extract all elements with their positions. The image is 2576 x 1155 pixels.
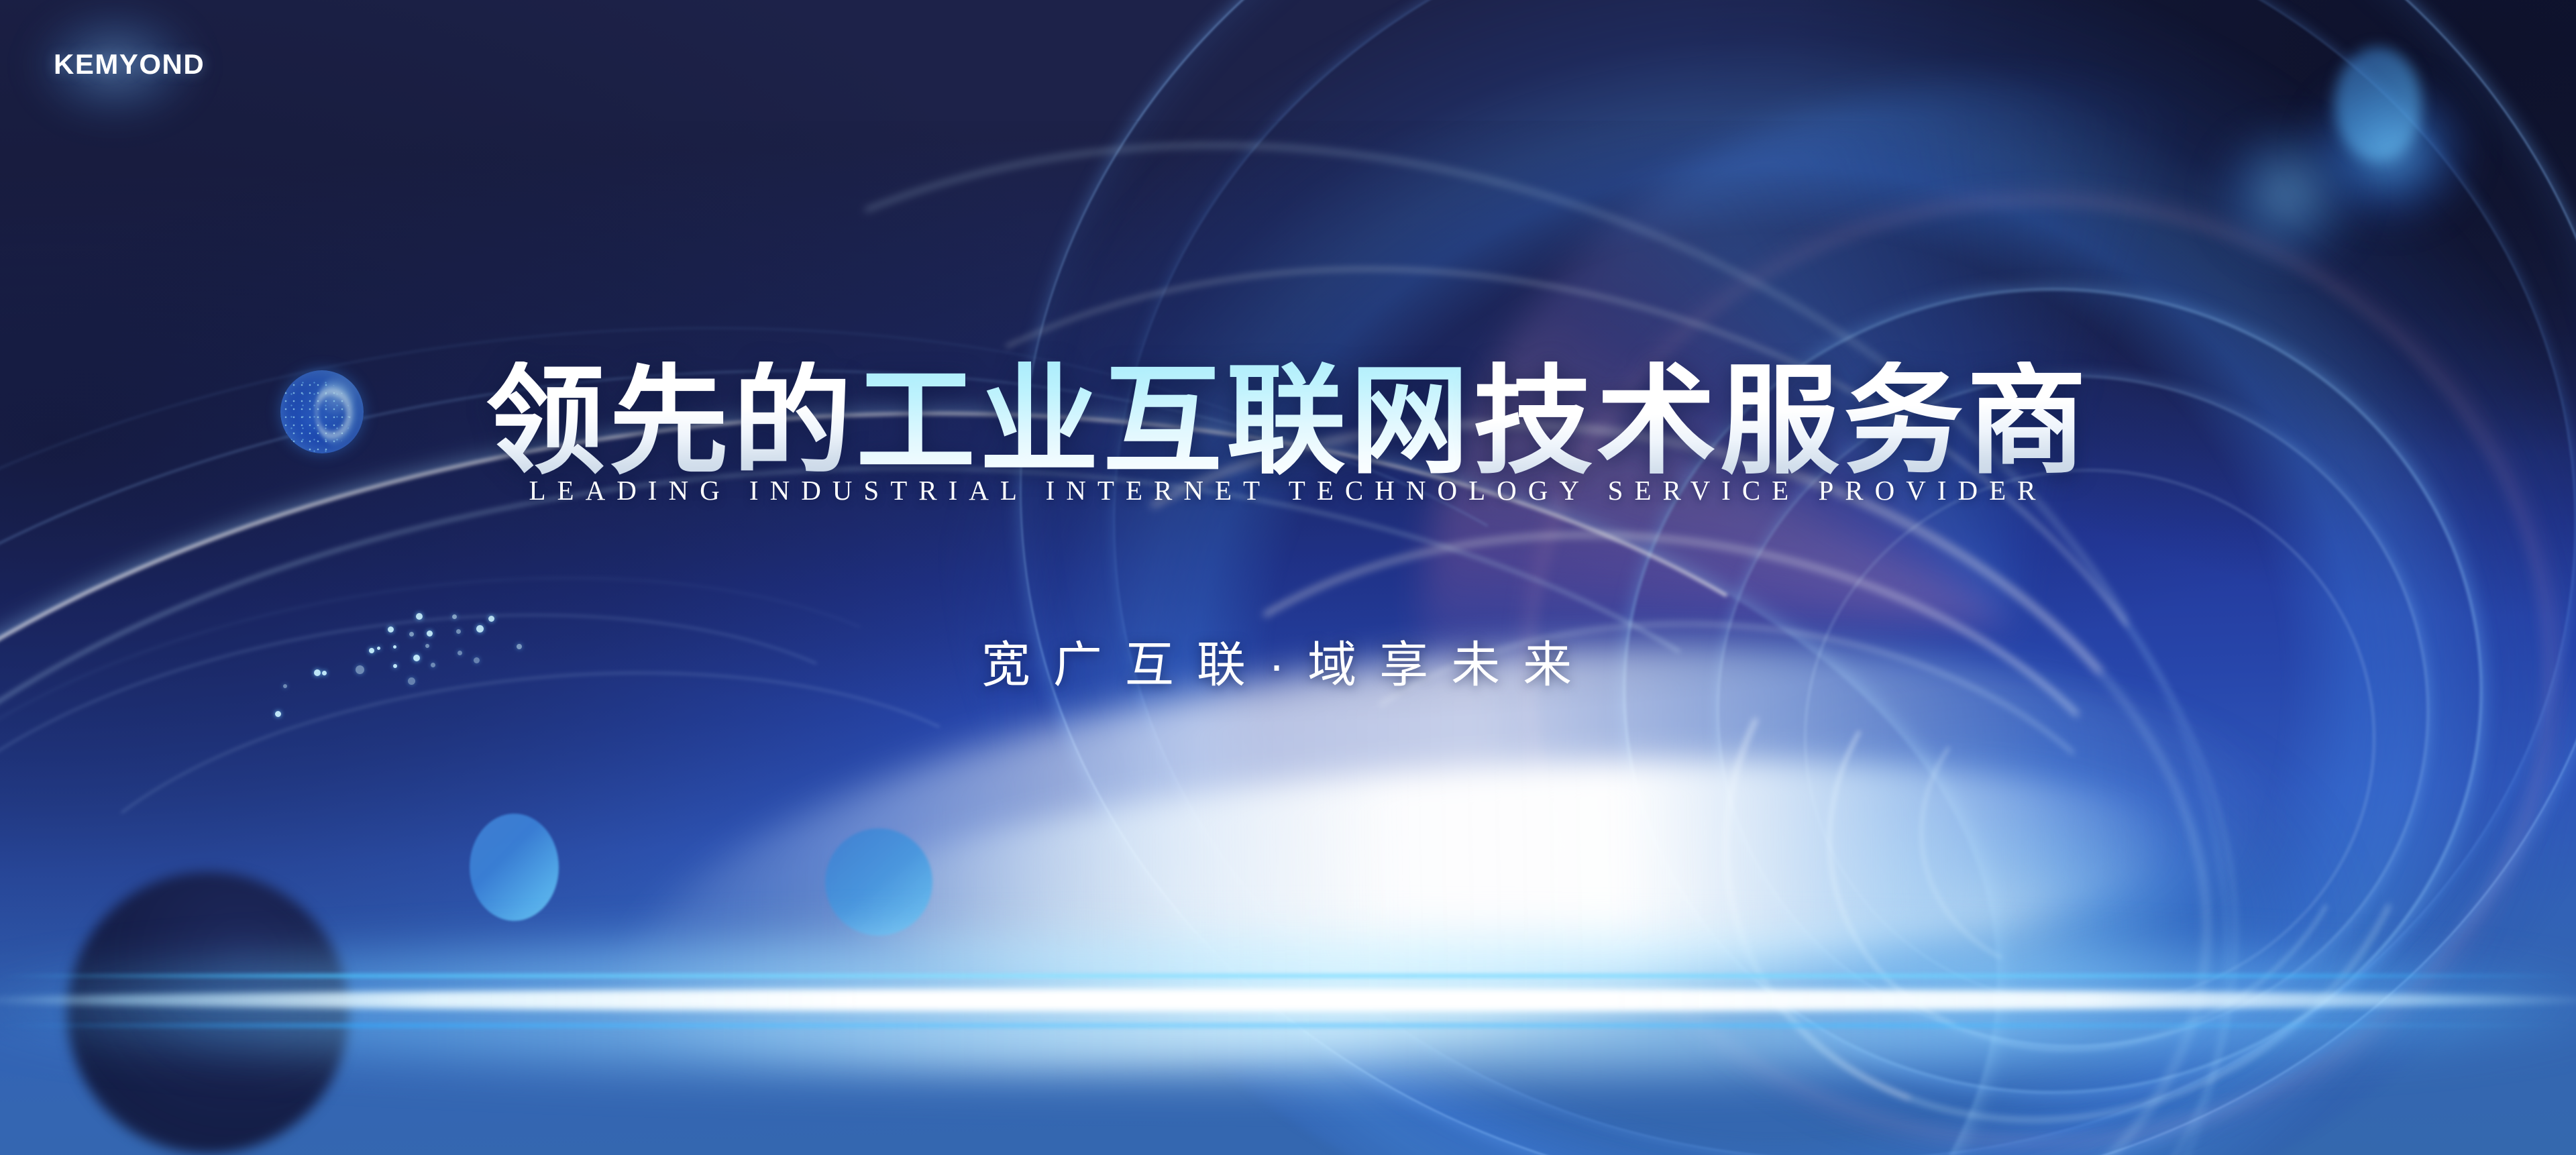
light-beam-thin-bottom xyxy=(0,1024,2576,1028)
headline-segment-1: 领先的 xyxy=(486,362,856,481)
subtitle-english: LEADING INDUSTRIAL INTERNET TECHNOLOGY S… xyxy=(0,474,2576,506)
tagline: 宽广互联·域享未来 xyxy=(0,625,2576,696)
light-beam-core xyxy=(0,989,2576,1011)
tagline-separator: · xyxy=(1269,638,1307,692)
tagline-right: 域享未来 xyxy=(1307,638,1595,692)
glow-blob-top-right-2 xyxy=(2214,127,2361,262)
page-title: 领先的工业互联网技术服务商 xyxy=(0,362,2576,481)
brand-logo[interactable]: KEMYOND xyxy=(54,48,205,80)
headline-segment-2: 工业互联网 xyxy=(856,362,1473,481)
headline-segment-3: 技术服务商 xyxy=(1473,362,2090,481)
light-beam-thin-top xyxy=(0,974,2576,978)
tagline-left: 宽广互联 xyxy=(981,638,1269,692)
banner-canvas: KEMYOND 领先的工业互联网技术服务商 LEADING INDUSTRIAL… xyxy=(0,0,2576,1155)
